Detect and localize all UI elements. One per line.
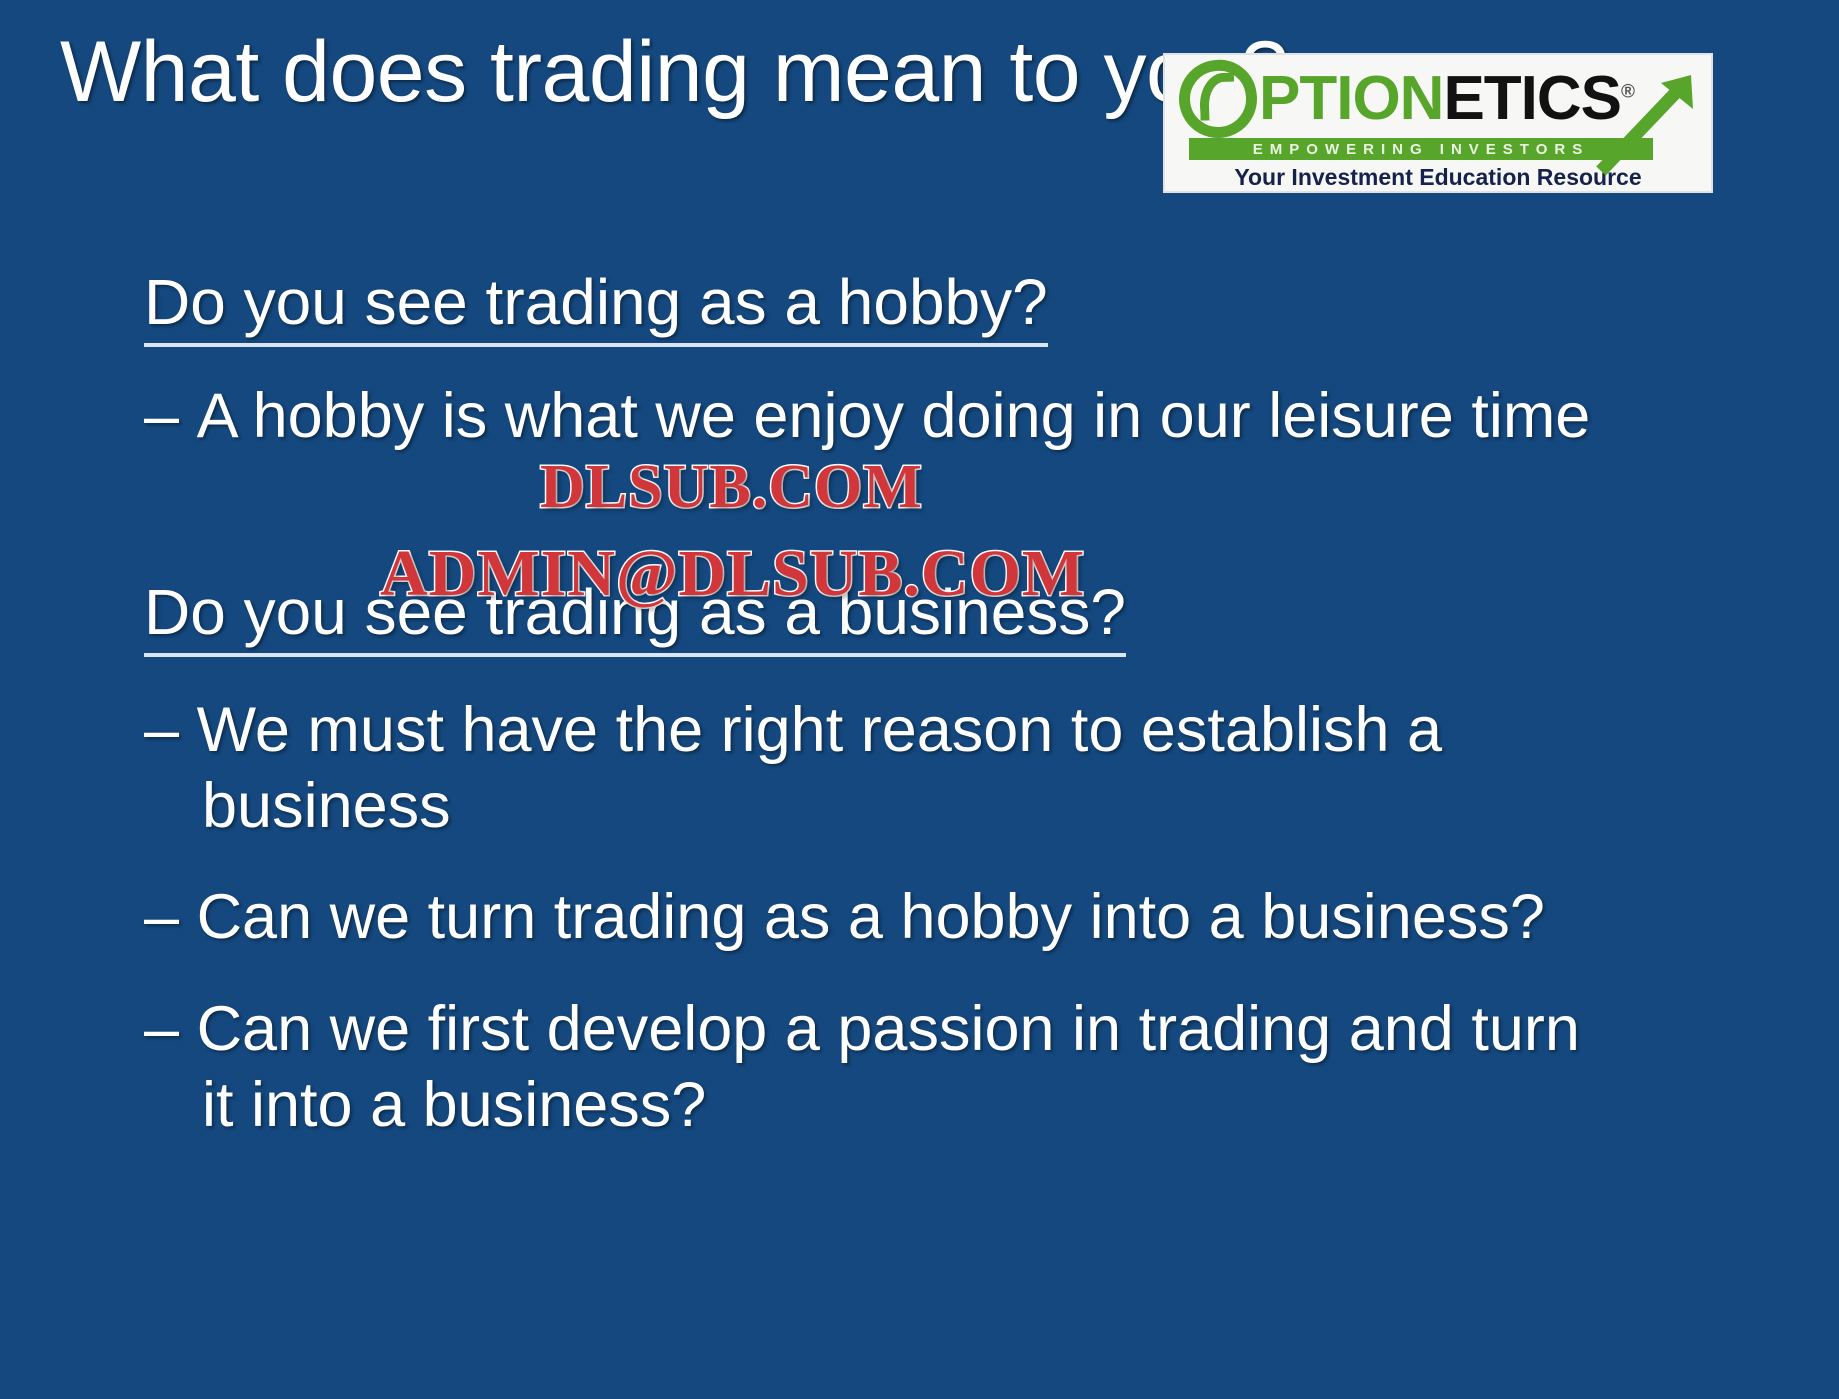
logo-bar-text: EMPOWERING INVESTORS <box>1253 141 1589 158</box>
bullet-business-2: – Can we turn trading as a hobby into a … <box>144 880 1602 956</box>
spacer <box>0 956 1839 992</box>
logo-word: PTIONETICS® <box>1259 68 1634 130</box>
watermark-site: DLSUB.COM <box>540 452 923 523</box>
logo-leaf-o-icon <box>1174 55 1262 143</box>
bullet-business-3: – Can we first develop a passion in trad… <box>144 992 1602 1143</box>
bullet-business-2-label: Can we turn trading as a hobby into a bu… <box>197 882 1545 952</box>
logo-word-black: ETICS <box>1443 64 1621 133</box>
bullet-dash-icon: – <box>144 994 179 1064</box>
bullet-dash-icon: – <box>144 695 179 765</box>
bullet-hobby-1: – A hobby is what we enjoy doing in our … <box>144 379 1602 455</box>
bullet-hobby-1-label: A hobby is what we enjoy doing in our le… <box>197 381 1591 451</box>
watermark-email: ADMIN@DLSUB.COM <box>380 536 1085 612</box>
spacer <box>0 844 1839 880</box>
bullet-dash-icon: – <box>144 882 179 952</box>
logo-word-green: PTION <box>1259 64 1443 133</box>
logo-tagline-bar: EMPOWERING INVESTORS <box>1189 138 1653 160</box>
section-heading-hobby: Do you see trading as a hobby? <box>144 264 1839 347</box>
logo-tagline: Your Investment Education Resource <box>1165 164 1711 191</box>
logo-wordmark: PTIONETICS® <box>1165 59 1711 138</box>
presentation-slide: What does trading mean to you? PTIONETIC… <box>0 0 1839 1399</box>
bullet-business-3-label: Can we first develop a passion in tradin… <box>197 994 1580 1140</box>
registered-mark: ® <box>1621 81 1634 102</box>
section-heading-hobby-label: Do you see trading as a hobby? <box>144 264 1048 347</box>
bullet-dash-icon: – <box>144 381 179 451</box>
spacer <box>0 657 1839 693</box>
bullet-business-1-label: We must have the right reason to establi… <box>197 695 1443 841</box>
optionetics-logo: PTIONETICS® EMPOWERING INVESTORS Your In… <box>1163 53 1713 193</box>
bullet-business-1: – We must have the right reason to estab… <box>144 693 1602 844</box>
slide-body: Do you see trading as a hobby? – A hobby… <box>0 264 1839 1143</box>
spacer <box>0 347 1839 379</box>
